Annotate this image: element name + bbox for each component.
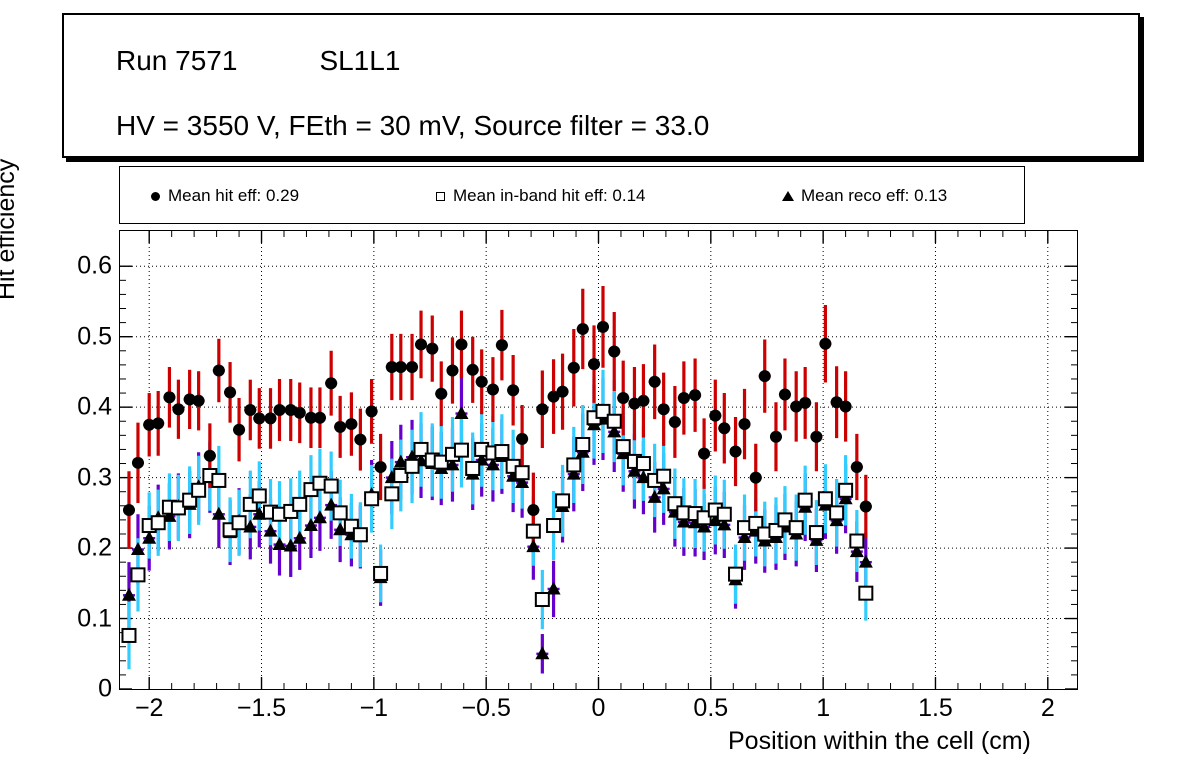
markers-open-square <box>122 405 872 642</box>
y-tick-label: 0.2 <box>77 534 112 563</box>
filled-triangle-icon <box>775 191 801 201</box>
legend-label-reco-eff: Mean reco eff: 0.13 <box>801 186 947 206</box>
error-bars-0 <box>123 286 872 549</box>
x-tick-label: −1 <box>360 694 389 723</box>
x-tick-label: −0.5 <box>461 694 510 723</box>
y-axis-ticks: 00.10.20.30.40.50.6 <box>0 230 112 690</box>
legend-label-hit-eff: Mean hit eff: 0.29 <box>168 186 299 206</box>
title-line-run: Run 7571SL1L1 <box>116 45 400 77</box>
x-tick-label: 2 <box>1041 694 1055 723</box>
run-label: Run 7571 <box>116 45 237 77</box>
y-tick-label: 0.6 <box>77 252 112 281</box>
superlayer-label: SL1L1 <box>319 45 400 77</box>
legend-label-inband-eff: Mean in-band hit eff: 0.14 <box>453 186 646 206</box>
plot-page: Run 7571SL1L1 HV = 3550 V, FEth = 30 mV,… <box>0 0 1196 772</box>
x-axis-ticks: −2−1.5−1−0.500.511.52 <box>0 694 1196 726</box>
x-tick-label: 0.5 <box>693 694 728 723</box>
legend-entry-hit-eff: Mean hit eff: 0.29 <box>142 167 299 225</box>
title-line-settings: HV = 3550 V, FEth = 30 mV, Source filter… <box>116 110 709 142</box>
x-tick-label: 1.5 <box>918 694 953 723</box>
plot-frame <box>119 230 1078 690</box>
open-square-icon <box>427 192 453 201</box>
scatter-chart <box>120 231 1077 689</box>
title-box: Run 7571SL1L1 HV = 3550 V, FEth = 30 mV,… <box>62 13 1140 158</box>
markers-filled-circle <box>123 321 872 516</box>
x-axis-label: Position within the cell (cm) <box>728 727 1031 756</box>
legend-box: Mean hit eff: 0.29 Mean in-band hit eff:… <box>119 166 1025 224</box>
x-tick-label: −2 <box>135 694 164 723</box>
y-tick-label: 0.1 <box>77 604 112 633</box>
x-tick-label: −1.5 <box>237 694 286 723</box>
y-tick-label: 0.4 <box>77 393 112 422</box>
x-tick-label: 1 <box>816 694 830 723</box>
y-tick-label: 0.5 <box>77 322 112 351</box>
filled-circle-icon <box>142 192 168 201</box>
legend-entry-reco-eff: Mean reco eff: 0.13 <box>775 167 947 225</box>
y-tick-label: 0.3 <box>77 463 112 492</box>
x-tick-label: 0 <box>592 694 606 723</box>
legend-entry-inband-eff: Mean in-band hit eff: 0.14 <box>427 167 646 225</box>
